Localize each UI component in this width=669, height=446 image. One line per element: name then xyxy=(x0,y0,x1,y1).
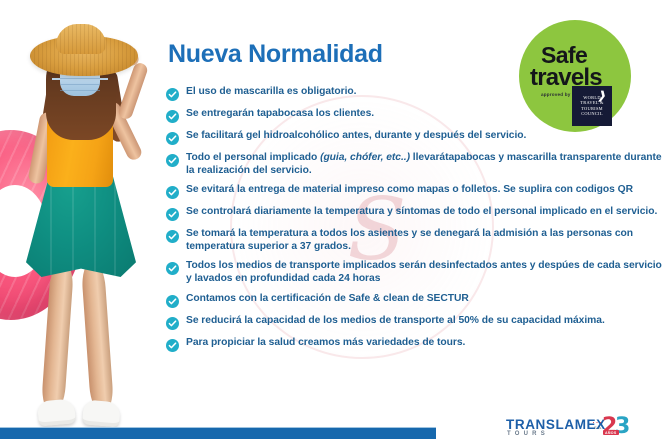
check-circle-icon xyxy=(166,88,179,101)
check-circle-icon xyxy=(166,208,179,221)
list-item: Se facilitará gel hidroalcohólico antes,… xyxy=(166,130,662,145)
list-item-text: Se facilitará gel hidroalcohólico antes,… xyxy=(186,130,526,143)
check-circle-icon xyxy=(166,110,179,123)
safe-travels-logo: Safe travels approved by ❱ WORLDTRAVEL &… xyxy=(519,20,641,132)
list-item: Se controlará diariamente la temperatura… xyxy=(166,206,662,221)
list-item: Todo el personal implicado (guia, chófer… xyxy=(166,152,662,177)
list-item-text: Se reducirá la capacidad de los medios d… xyxy=(186,315,605,328)
check-circle-icon xyxy=(166,186,179,199)
check-circle-icon xyxy=(166,154,179,167)
straw-hat-crown xyxy=(56,24,106,54)
check-circle-icon xyxy=(166,339,179,352)
list-item: Se reducirá la capacidad de los medios d… xyxy=(166,315,662,330)
list-item-text: Todo el personal implicado (guia, chófer… xyxy=(186,152,662,177)
list-item-text: Se evitará la entrega de material impres… xyxy=(186,184,633,197)
brand-sub: TOURS xyxy=(507,431,549,437)
poster-canvas: S xyxy=(0,0,669,446)
brand-name: TRANSLAMEX xyxy=(506,417,606,432)
wttc-badge-text: WORLDTRAVEL &TOURISMCOUNCIL xyxy=(572,95,612,117)
approved-by-label: approved by xyxy=(541,92,571,97)
wttc-badge: ❱ WORLDTRAVEL &TOURISMCOUNCIL xyxy=(572,86,612,126)
bottom-blue-bar xyxy=(0,428,436,439)
list-item-text: Todos los medios de transporte implicado… xyxy=(186,260,662,285)
list-item-text: El uso de mascarilla es obligatorio. xyxy=(186,86,356,99)
hero-photo xyxy=(0,0,170,436)
page-title: Nueva Normalidad xyxy=(168,40,383,69)
check-circle-icon xyxy=(166,317,179,330)
list-item: Se evitará la entrega de material impres… xyxy=(166,184,662,199)
list-item: Todos los medios de transporte implicado… xyxy=(166,260,662,285)
list-item: Se tomará la temperatura a todos los asi… xyxy=(166,228,662,253)
list-item-text: Se controlará diariamente la temperatura… xyxy=(186,206,657,219)
check-circle-icon xyxy=(166,230,179,243)
left-sneaker xyxy=(37,398,76,426)
list-item-text-pre: Todo el personal implicado xyxy=(186,152,320,163)
list-item-text: Para propiciar la salud creamos más vari… xyxy=(186,337,465,350)
list-item-text: Se tomará la temperatura a todos los asi… xyxy=(186,228,662,253)
translamex-logo: TRANSLAMEX TOURS ··· S.A. 2 3 AÑOS xyxy=(506,415,656,443)
check-circle-icon xyxy=(166,262,179,275)
list-item-text: Contamos con la certificación de Safe & … xyxy=(186,293,469,306)
list-item-text-italic: (guia, chófer, etc..) xyxy=(320,152,410,163)
bottom-bar-highlight xyxy=(0,427,436,428)
list-item-text: Se entregarán tapabocasa los clientes. xyxy=(186,108,374,121)
anniversary-label: AÑOS xyxy=(603,430,619,435)
list-item: Contamos con la certificación de Safe & … xyxy=(166,293,662,308)
check-circle-icon xyxy=(166,132,179,145)
anniversary-number-3: 3 xyxy=(615,414,630,439)
list-item: Para propiciar la salud creamos más vari… xyxy=(166,337,662,352)
check-circle-icon xyxy=(166,295,179,308)
